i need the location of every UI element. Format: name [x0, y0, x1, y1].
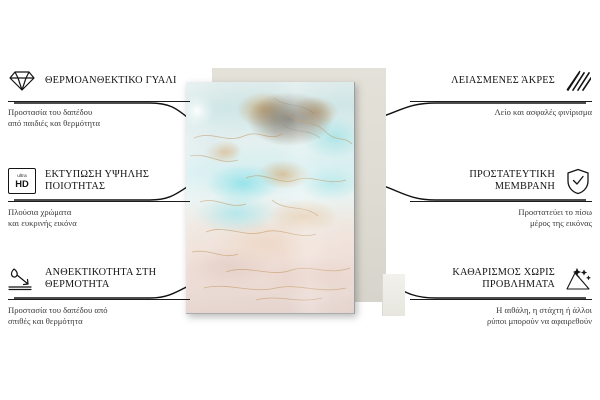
feature-description-line1: Προστασία του δαπέδου από	[8, 305, 190, 316]
feature-header: ΘΕΡΜΟΑΝΘΕΚΤΙΚΟ ΓΥΑΛΙ	[8, 66, 190, 96]
feature-title: ΘΕΡΜΟΑΝΘΕΚΤΙΚΟ ΓΥΑΛΙ	[45, 75, 190, 88]
flame-deflect-icon	[8, 265, 36, 293]
product-glass-print	[186, 68, 386, 318]
shield-check-icon	[564, 167, 592, 195]
feature-description-line1: Πλούσια χρώματα	[8, 207, 190, 218]
feature-heat-durability: ΑΝΘΕΚΤΙΚΟΤΗΤΑ ΣΤΗ ΘΕΡΜΟΤΗΤΑ Προστασία το…	[8, 264, 190, 326]
feature-description: Προστασία του δαπέδου από παιδιές και θε…	[8, 107, 190, 128]
feature-description-line1: Λείο και ασφαλές φινίρισμα	[410, 107, 592, 118]
feature-description: Πλούσια χρώματα και ευκρινής εικόνα	[8, 207, 190, 228]
feature-title: ΛΕΙΑΣΜΕΝΕΣ ΆΚΡΕΣ	[410, 75, 555, 88]
feature-heat-resistant-glass: ΘΕΡΜΟΑΝΘΕΚΤΙΚΟ ΓΥΑΛΙ Προστασία του δαπέδ…	[8, 66, 190, 128]
feature-divider	[8, 101, 190, 102]
ultra-hd-icon: ultra HD	[8, 167, 36, 195]
feature-header: ΠΡΟΣΤΑΤΕΥΤΙΚΗ ΜΕΜΒΡΑΝΗ	[410, 166, 592, 196]
feature-description: Προστατεύει το πίσω μέρος της εικόνας	[410, 207, 592, 228]
ultra-hd-icon-bottom: HD	[15, 179, 29, 188]
feature-description-line1: Η αιθάλη, η στάχτη ή άλλοι	[410, 305, 592, 316]
feature-header: ΛΕΙΑΣΜΕΝΕΣ ΆΚΡΕΣ	[410, 66, 592, 96]
feature-easy-cleaning: ΚΑΘΑΡΙΣΜΟΣ ΧΩΡΙΣ ΠΡΟΒΛΗΜΑΤΑ Η αιθάλη, η …	[410, 264, 592, 326]
feature-header: ΑΝΘΕΚΤΙΚΟΤΗΤΑ ΣΤΗ ΘΕΡΜΟΤΗΤΑ	[8, 264, 190, 294]
feature-description-line1: Προστασία του δαπέδου	[8, 107, 190, 118]
infographic-stage: ΘΕΡΜΟΑΝΘΕΚΤΙΚΟ ΓΥΑΛΙ Προστασία του δαπέδ…	[0, 0, 600, 400]
feature-description-line1: Προστατεύει το πίσω	[410, 207, 592, 218]
feature-description: Η αιθάλη, η στάχτη ή άλλοι ρύποι μπορούν…	[410, 305, 592, 326]
feature-description: Λείο και ασφαλές φινίρισμα	[410, 107, 592, 118]
diagonal-lines-icon	[564, 67, 592, 95]
feature-description-line2: μέρος της εικόνας	[410, 218, 592, 229]
feature-title: ΕΚΤΥΠΩΣΗ ΥΨΗΛΗΣ ΠΟΙΟΤΗΤΑΣ	[45, 169, 190, 194]
feature-description-line2: από παιδιές και θερμότητα	[8, 118, 190, 129]
feature-header: ultra HD ΕΚΤΥΠΩΣΗ ΥΨΗΛΗΣ ΠΟΙΟΤΗΤΑΣ	[8, 166, 190, 196]
feature-divider	[8, 201, 190, 202]
feature-description-line2: σπιθές και θερμότητα	[8, 316, 190, 327]
sparkle-cloth-icon	[564, 265, 592, 293]
product-backdrop-edge	[382, 274, 405, 316]
feature-description: Προστασία του δαπέδου από σπιθές και θερ…	[8, 305, 190, 326]
feature-description-line2: ρύποι μπορούν να αφαιρεθούν	[410, 316, 592, 327]
feature-polished-edges: ΛΕΙΑΣΜΕΝΕΣ ΆΚΡΕΣ Λείο και ασφαλές φινίρι…	[410, 66, 592, 118]
feature-protective-membrane: ΠΡΟΣΤΑΤΕΥΤΙΚΗ ΜΕΜΒΡΑΝΗ Προστατεύει το πί…	[410, 166, 592, 228]
glass-panel	[186, 82, 355, 314]
feature-description-line2: και ευκρινής εικόνα	[8, 218, 190, 229]
diamond-icon	[8, 67, 36, 95]
feature-divider	[410, 299, 592, 300]
feature-header: ΚΑΘΑΡΙΣΜΟΣ ΧΩΡΙΣ ΠΡΟΒΛΗΜΑΤΑ	[410, 264, 592, 294]
artwork-veins	[186, 82, 354, 313]
feature-divider	[410, 101, 592, 102]
feature-title: ΚΑΘΑΡΙΣΜΟΣ ΧΩΡΙΣ ΠΡΟΒΛΗΜΑΤΑ	[410, 267, 555, 292]
feature-title: ΑΝΘΕΚΤΙΚΟΤΗΤΑ ΣΤΗ ΘΕΡΜΟΤΗΤΑ	[45, 267, 190, 292]
feature-divider	[8, 299, 190, 300]
feature-title: ΠΡΟΣΤΑΤΕΥΤΙΚΗ ΜΕΜΒΡΑΝΗ	[410, 169, 555, 194]
feature-divider	[410, 201, 592, 202]
feature-high-quality-print: ultra HD ΕΚΤΥΠΩΣΗ ΥΨΗΛΗΣ ΠΟΙΟΤΗΤΑΣ Πλούσ…	[8, 166, 190, 228]
